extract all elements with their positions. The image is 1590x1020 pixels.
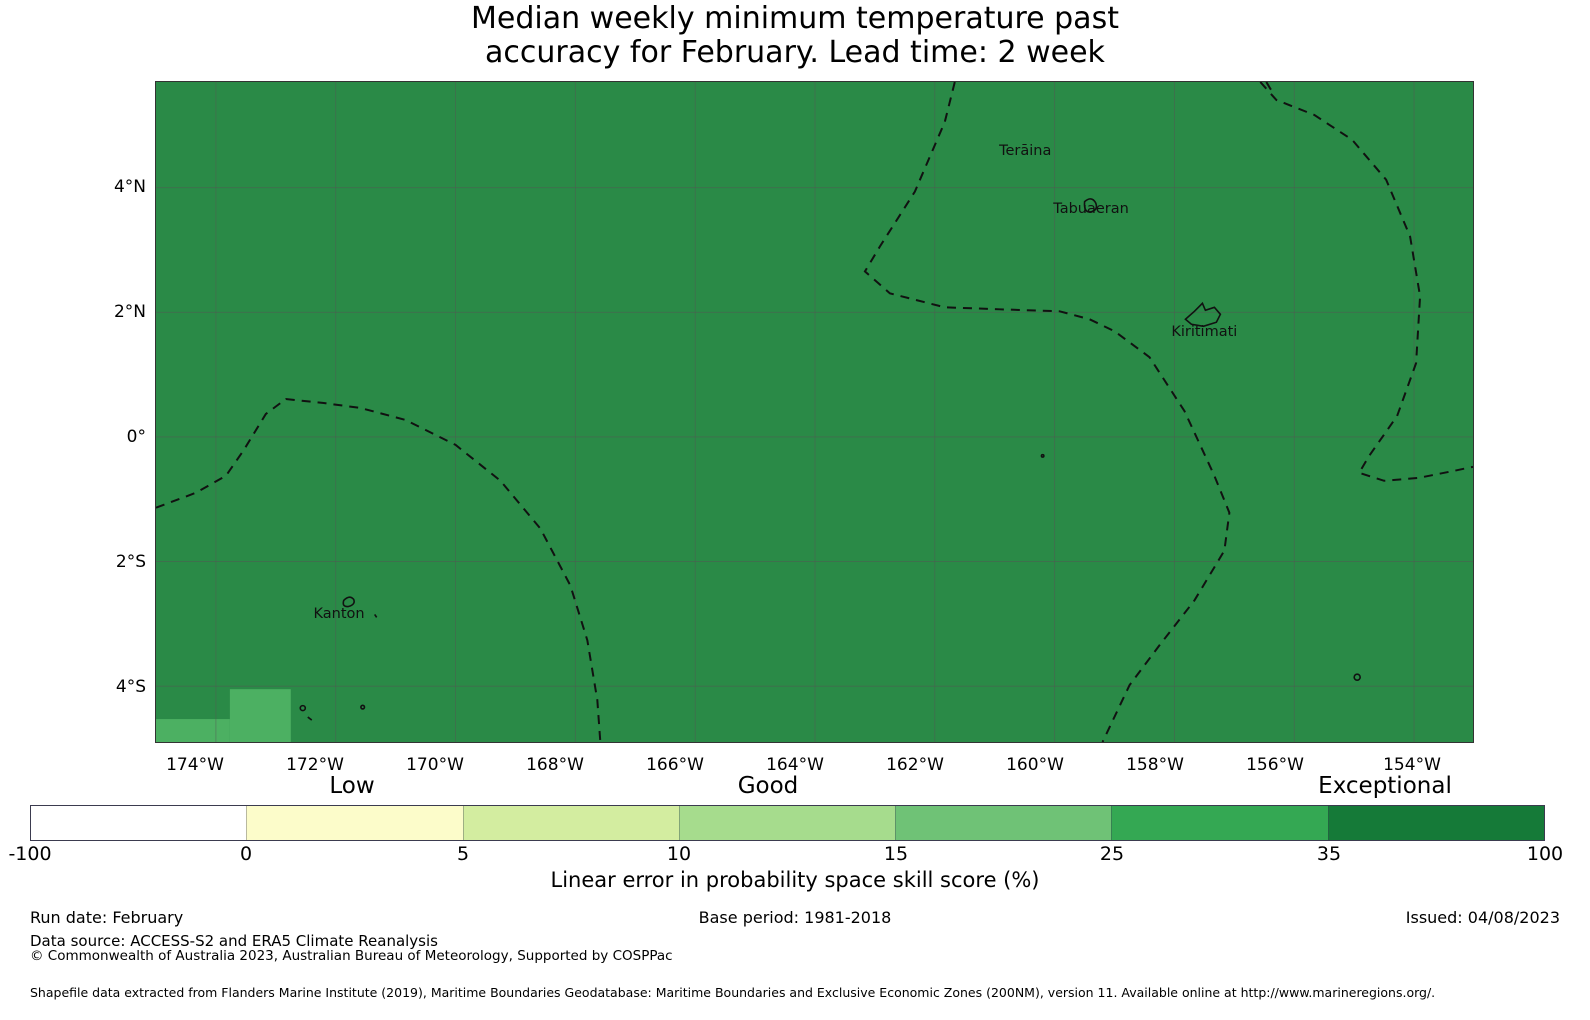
colorbar-swatch-0[interactable] — [31, 806, 246, 840]
lon-tick-158w: 158°W — [1126, 755, 1184, 775]
footer-shapefile-attribution: Shapefile data extracted from Flanders M… — [30, 985, 1435, 1000]
lon-tick-154w: 154°W — [1383, 755, 1441, 775]
lat-tick-4s: 4°S — [0, 677, 146, 697]
colorbar-tick-5: 5 — [457, 843, 469, 865]
colorbar-swatch-6[interactable] — [1328, 806, 1544, 840]
lat-tick-2n: 2°N — [0, 302, 146, 322]
map-vector-overlay — [156, 82, 1473, 742]
colorbar-swatch-4[interactable] — [895, 806, 1111, 840]
lon-tick-166w: 166°W — [646, 755, 704, 775]
colorbar-axis-label: Linear error in probability space skill … — [0, 868, 1590, 892]
lon-tick-162w: 162°W — [886, 755, 944, 775]
island-outline-kanton — [343, 597, 354, 606]
lon-tick-170w: 170°W — [406, 755, 464, 775]
island-outline-atoll-a — [375, 614, 377, 617]
colorbar-tick-25: 25 — [1100, 843, 1124, 865]
island-outline-kiritimati — [1185, 303, 1220, 326]
colorbar-swatch-1[interactable] — [246, 806, 462, 840]
colorbar-category-good: Good — [738, 773, 799, 799]
colorbar[interactable] — [30, 805, 1545, 841]
lat-tick-2s: 2°S — [0, 552, 146, 572]
latitude-gridlines — [156, 188, 1473, 686]
colorbar-tick-15: 15 — [884, 843, 908, 865]
lon-tick-164w: 164°W — [766, 755, 824, 775]
eez-boundary-phoenix — [156, 399, 600, 742]
island-outline-atoll-b — [308, 717, 312, 720]
footer-issued-date: Issued: 04/08/2023 — [1406, 908, 1560, 927]
colorbar-tick-0: 0 — [240, 843, 252, 865]
lon-tick-174w: 174°W — [166, 755, 224, 775]
lat-tick-4n: 4°N — [0, 177, 146, 197]
map-plot-area: Terāina Tabuaeran Kiritimati Kanton — [155, 81, 1474, 743]
island-outline-tabuaeran — [1084, 199, 1096, 212]
eez-boundary-lines — [156, 82, 1473, 742]
eez-boundary-corner-stub — [1266, 82, 1272, 92]
footer-copyright: © Commonwealth of Australia 2023, Austra… — [30, 948, 673, 964]
island-outline-atoll-c — [300, 706, 305, 711]
eez-boundary-line-islands-east — [1260, 82, 1473, 481]
island-outline-atoll-d — [361, 705, 365, 709]
longitude-gridlines — [216, 82, 1414, 742]
lon-tick-156w: 156°W — [1246, 755, 1304, 775]
page-title: Median weekly minimum temperature past a… — [0, 2, 1590, 70]
island-outlines — [300, 199, 1360, 720]
colorbar-tick-10: 10 — [667, 843, 691, 865]
colorbar-swatch-5[interactable] — [1111, 806, 1327, 840]
footer-base-period: Base period: 1981-2018 — [0, 908, 1590, 927]
colorbar-tick-35: 35 — [1317, 843, 1341, 865]
island-outline-atoll-e — [1354, 674, 1360, 680]
colorbar-tick-100: 100 — [1527, 843, 1563, 865]
lat-tick-0: 0° — [0, 427, 146, 447]
colorbar-category-low: Low — [329, 773, 374, 799]
colorbar-tick-minus100: -100 — [8, 843, 51, 865]
colorbar-category-exceptional: Exceptional — [1318, 773, 1452, 799]
island-outline-atoll-f — [1041, 455, 1043, 457]
colorbar-swatch-2[interactable] — [463, 806, 679, 840]
lon-tick-160w: 160°W — [1006, 755, 1064, 775]
lon-tick-172w: 172°W — [286, 755, 344, 775]
colorbar-swatch-3[interactable] — [679, 806, 895, 840]
lon-tick-168w: 168°W — [526, 755, 584, 775]
